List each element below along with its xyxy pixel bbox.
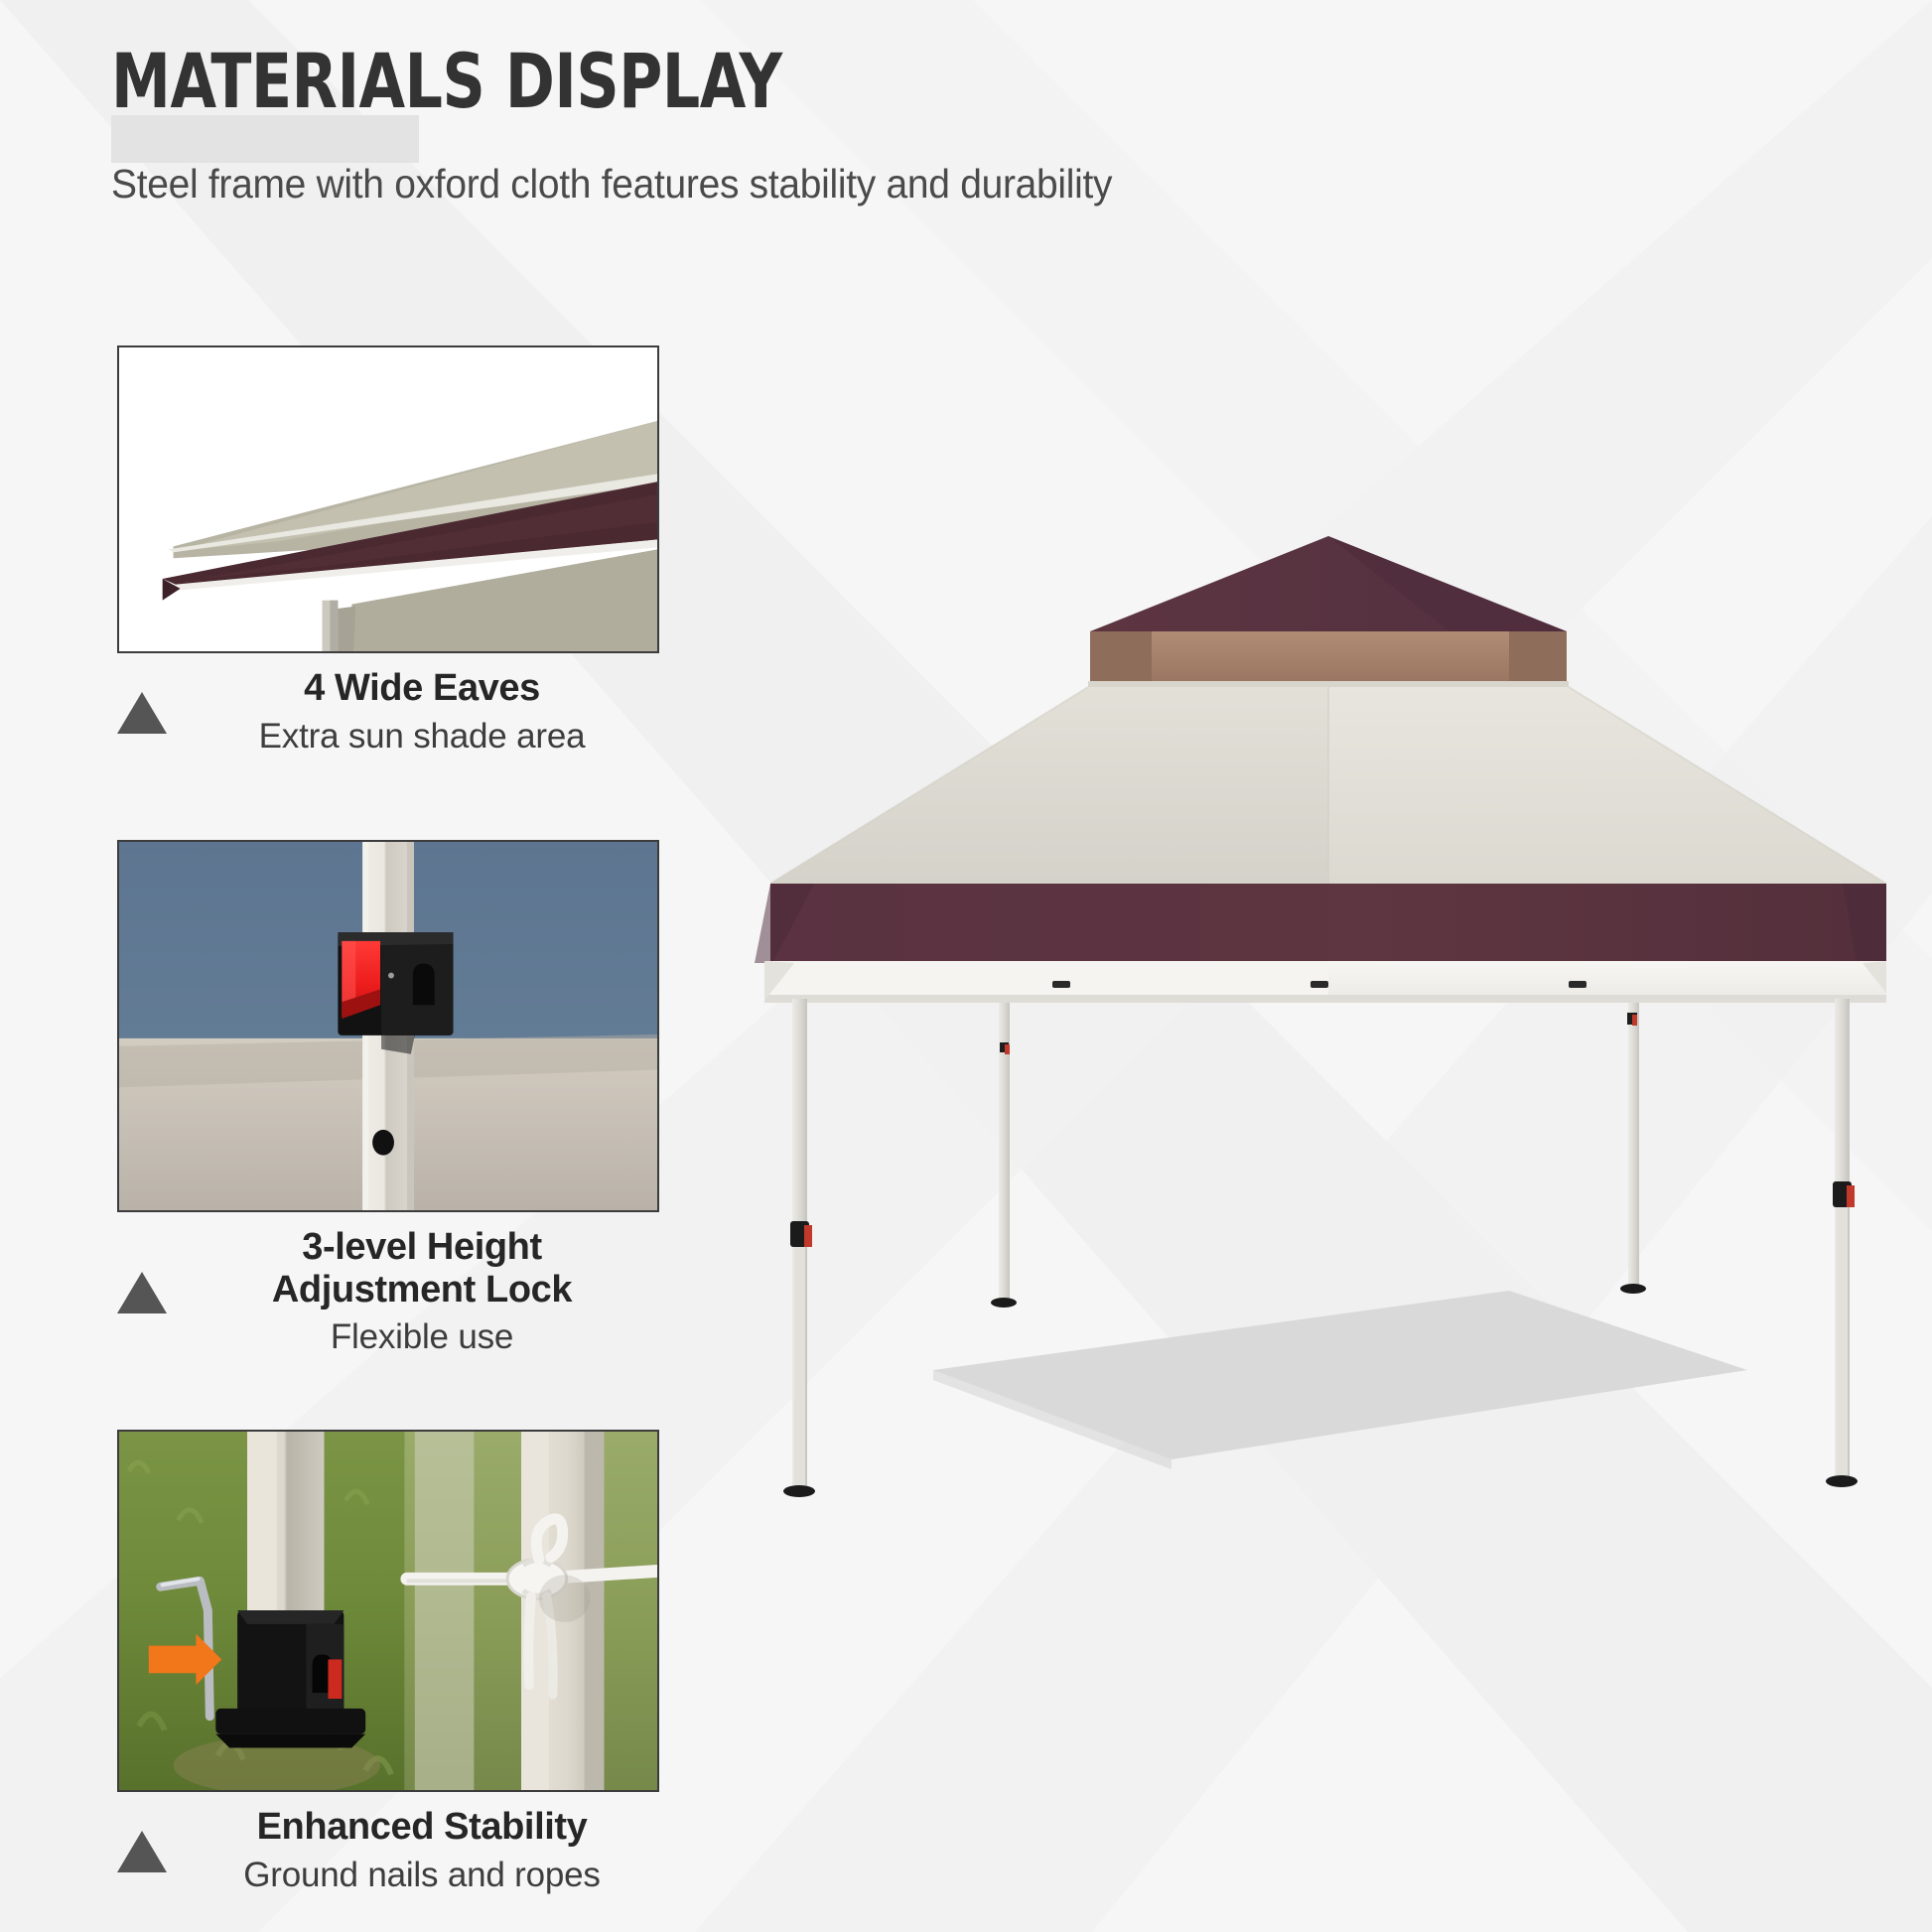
caption-text: 3-level Height Adjustment Lock Flexible …: [181, 1226, 663, 1360]
caption-title: 4 Wide Eaves: [181, 667, 663, 710]
triangle-up-icon: [117, 692, 167, 734]
height-adjustment-lock-photo: [117, 840, 659, 1212]
caption-text: Enhanced Stability Ground nails and rope…: [181, 1806, 663, 1897]
header: MATERIALS DISPLAY Steel frame with oxfor…: [111, 44, 1600, 207]
pop-up-gazebo-render: [755, 536, 1886, 1588]
page-title-wrapper: MATERIALS DISPLAY: [111, 44, 874, 119]
page-title: MATERIALS DISPLAY: [111, 44, 782, 119]
caption-subtitle: Ground nails and ropes: [181, 1849, 663, 1898]
feature-enhanced-stability: Enhanced Stability Ground nails and rope…: [117, 1430, 663, 1897]
ground-nails-and-ropes-photo: [117, 1430, 659, 1792]
infographic-page: MATERIALS DISPLAY Steel frame with oxfor…: [0, 0, 1932, 1932]
caption-enhanced-stability: Enhanced Stability Ground nails and rope…: [117, 1792, 663, 1897]
caption-title-line1: 3-level Height: [181, 1226, 663, 1269]
caption-subtitle: Flexible use: [181, 1311, 663, 1360]
feature-wide-eaves: 4 Wide Eaves Extra sun shade area: [117, 345, 663, 759]
caption-title-line2: Adjustment Lock: [181, 1269, 663, 1311]
caption-subtitle: Extra sun shade area: [181, 710, 663, 759]
caption-height-lock: 3-level Height Adjustment Lock Flexible …: [117, 1212, 663, 1360]
feature-height-lock: 3-level Height Adjustment Lock Flexible …: [117, 840, 663, 1360]
caption-text: 4 Wide Eaves Extra sun shade area: [181, 667, 663, 759]
caption-wide-eaves: 4 Wide Eaves Extra sun shade area: [117, 653, 663, 759]
canopy-eave-closeup-photo: [117, 345, 659, 653]
triangle-up-icon: [117, 1272, 167, 1313]
triangle-up-icon: [117, 1831, 167, 1872]
caption-title: Enhanced Stability: [181, 1806, 663, 1849]
page-subtitle: Steel frame with oxford cloth features s…: [111, 119, 1526, 207]
